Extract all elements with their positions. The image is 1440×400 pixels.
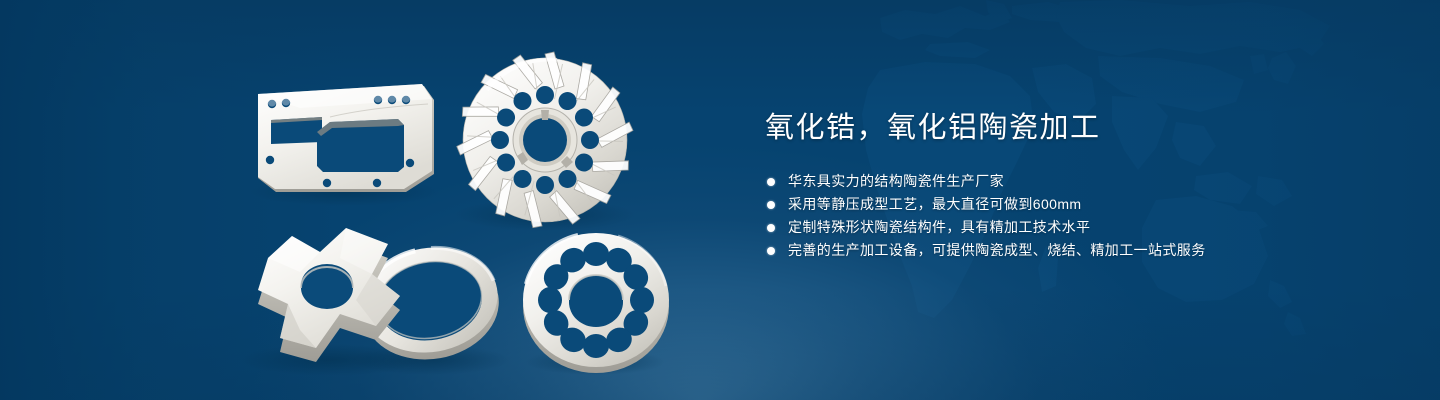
list-item-label: 完善的生产加工设备，可提供陶瓷成型、烧结、精加工一站式服务 [788,242,1206,258]
ceramic-plate [258,84,434,192]
ceramic-perforated-disc [523,233,669,373]
list-item-label: 定制特殊形状陶瓷结构件，具有精加工技术水平 [788,219,1090,235]
page-title: 氧化锆，氧化铝陶瓷加工 [765,108,1405,148]
bullet-dot-icon [767,224,775,232]
hero-banner: 氧化锆，氧化铝陶瓷加工 华东具实力的结构陶瓷件生产厂家 采用等静压成型工艺，最大… [0,0,1440,400]
list-item: 采用等静压成型工艺，最大直径可做到600mm [765,193,1405,216]
bullet-dot-icon [767,178,775,186]
product-photo-group [0,0,760,400]
ceramic-impeller [455,51,635,228]
banner-text-block: 氧化锆，氧化铝陶瓷加工 华东具实力的结构陶瓷件生产厂家 采用等静压成型工艺，最大… [765,108,1405,262]
bullet-dot-icon [767,247,775,255]
feature-list: 华东具实力的结构陶瓷件生产厂家 采用等静压成型工艺，最大直径可做到600mm 定… [765,170,1405,262]
bullet-dot-icon [767,201,775,209]
list-item-label: 采用等静压成型工艺，最大直径可做到600mm [788,196,1081,212]
list-item-label: 华东具实力的结构陶瓷件生产厂家 [788,173,1004,189]
list-item: 定制特殊形状陶瓷结构件，具有精加工技术水平 [765,216,1405,239]
list-item: 华东具实力的结构陶瓷件生产厂家 [765,170,1405,193]
list-item: 完善的生产加工设备，可提供陶瓷成型、烧结、精加工一站式服务 [765,239,1405,262]
